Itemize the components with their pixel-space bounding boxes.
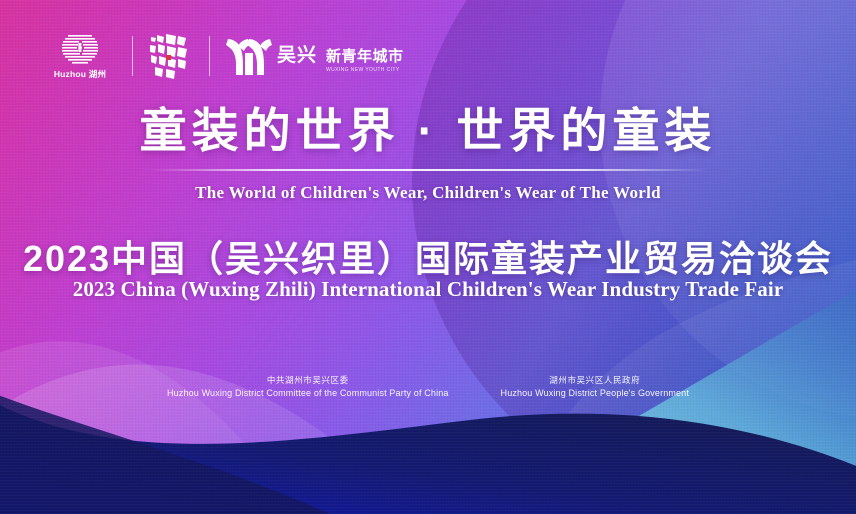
wuxing-name: 吴兴: [277, 40, 317, 67]
logo-divider-1: [132, 36, 133, 76]
organiser-cn: 中共湖州市吴兴区委: [167, 374, 449, 387]
logo-divider-2: [209, 36, 210, 76]
logo-strip: Huzhou 湖州: [44, 28, 404, 84]
organiser-cn: 湖州市吴兴区人民政府: [501, 374, 689, 387]
huzhou-logo: Huzhou 湖州: [44, 32, 116, 80]
wuxing-text-lockup: 吴兴 新青年城市 WUXING NEW YOUTH CITY: [277, 40, 404, 73]
headline-divider: [148, 169, 708, 171]
huzhou-city-mark-icon: [60, 32, 100, 65]
wuxing-slogan-cn: 新青年城市: [326, 45, 404, 66]
organiser-list: 中共湖州市吴兴区委 Huzhou Wuxing District Committ…: [0, 374, 856, 400]
event-title-en: 2023 China (Wuxing Zhili) International …: [0, 277, 856, 302]
huzhou-calligraphy-seal-icon: [149, 33, 193, 79]
event-banner: Huzhou 湖州: [0, 0, 856, 514]
event-title-cn: 2023中国（吴兴织里）国际童装产业贸易洽谈会: [0, 230, 856, 282]
huzhou-wordmark: Huzhou 湖州: [54, 68, 106, 80]
headline-en: The World of Children's Wear, Children's…: [0, 183, 856, 203]
organiser-en: Huzhou Wuxing District People's Governme…: [501, 387, 689, 401]
wuxing-slogan: 新青年城市 WUXING NEW YOUTH CITY: [326, 45, 404, 73]
organiser-item: 中共湖州市吴兴区委 Huzhou Wuxing District Committ…: [167, 374, 449, 400]
wuxing-slogan-en: WUXING NEW YOUTH CITY: [326, 67, 404, 73]
banner-content: Huzhou 湖州: [0, 0, 856, 514]
organiser-en: Huzhou Wuxing District Committee of the …: [167, 387, 449, 401]
wuxing-double-y-mark-icon: [226, 35, 272, 77]
headline-cn: 童装的世界 · 世界的童装: [0, 104, 856, 158]
organiser-item: 湖州市吴兴区人民政府 Huzhou Wuxing District People…: [501, 374, 689, 400]
wuxing-logo: 吴兴 新青年城市 WUXING NEW YOUTH CITY: [226, 35, 404, 77]
